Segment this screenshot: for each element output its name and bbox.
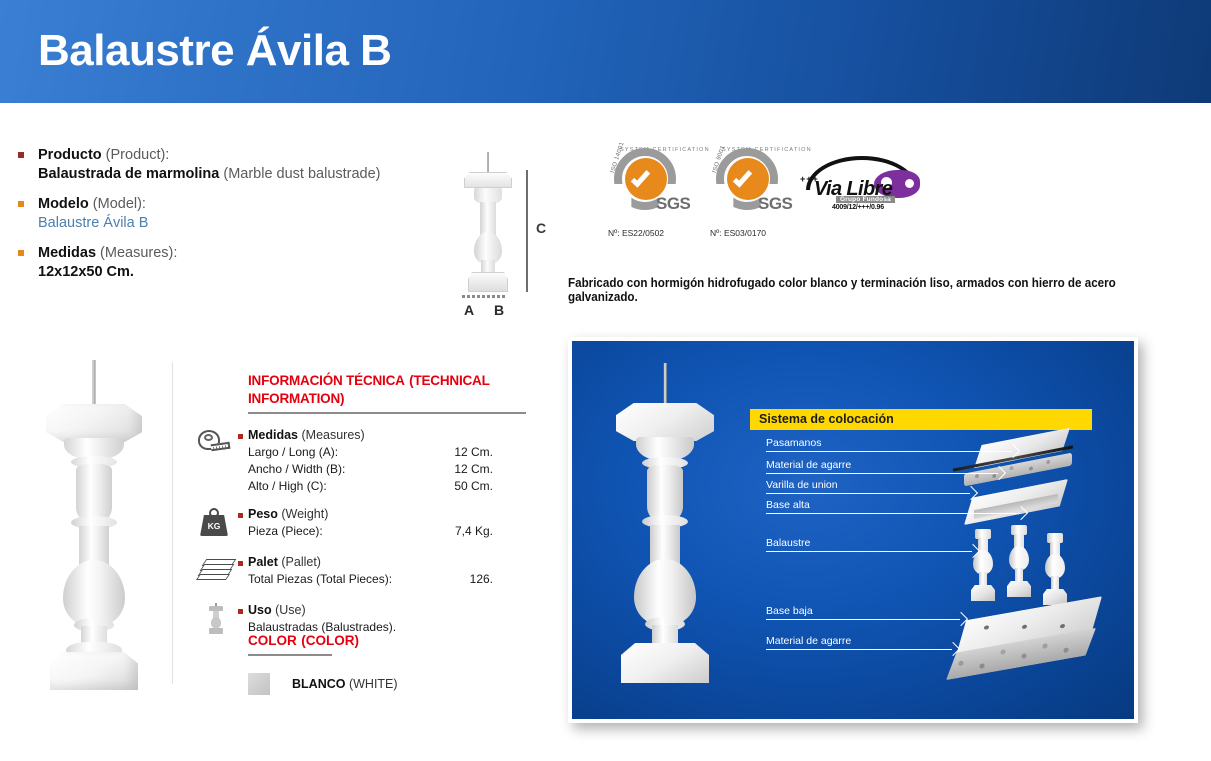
arrow-icon: [966, 544, 980, 558]
callout-line: [766, 513, 1020, 514]
row-value: 12 Cm.: [423, 445, 493, 459]
block-title: Palet (Pallet): [248, 555, 546, 569]
callout-label: Material de agarre: [766, 635, 851, 647]
base-part: [209, 628, 223, 634]
sgs-brand: SGS: [758, 194, 792, 214]
arrow-icon: [954, 612, 968, 626]
product-info-list: Producto (Product): Balaustrada de marmo…: [16, 146, 446, 293]
cap-part: [616, 403, 714, 441]
system-title: Sistema de colocación: [759, 412, 894, 426]
measures-label-es: Medidas: [38, 245, 96, 261]
model-value: Balaustre Ávila B: [38, 214, 446, 233]
column-divider: [172, 362, 173, 684]
row-key: Alto / High (C):: [248, 479, 423, 493]
bullet-icon: [238, 434, 243, 439]
mini-balustrade-part: [1042, 533, 1068, 607]
product-label-row: Producto (Product):: [38, 146, 446, 165]
technical-header: INFORMACIÓN TÉCNICA (TECHNICAL INFORMATI…: [196, 372, 520, 408]
base-part: [50, 652, 138, 690]
callout-pasamanos: Pasamanos: [766, 437, 1020, 457]
callout-label: Pasamanos: [766, 437, 821, 449]
row-value: 50 Cm.: [423, 479, 493, 493]
shaft-part: [480, 202, 496, 236]
arrow-icon: [992, 466, 1006, 480]
callout-base-alta: Base alta: [766, 499, 1028, 519]
table-row: Pieza (Piece): 7,4 Kg.: [248, 524, 546, 538]
tape-measure-icon: [196, 428, 236, 460]
upper-shaft-part: [76, 464, 112, 522]
dimension-diagram: C A B: [448, 148, 558, 323]
mini-balustrade-part: [1006, 525, 1032, 599]
callout-material-de-agarre-bottom: Material de agarre: [766, 635, 960, 655]
technical-block-medidas: Medidas (Measures) Largo / Long (A): 12 …: [196, 428, 546, 493]
callout-line: [766, 619, 960, 620]
color-section: COLOR (COLOR) BLANCO (WHITE): [248, 632, 508, 695]
arrow-icon: [1014, 506, 1028, 520]
color-rule: [248, 654, 332, 656]
callout-line: [766, 451, 1012, 452]
block-title-en: (Pallet): [281, 555, 321, 569]
row-key: Ancho / Width (B):: [248, 462, 423, 476]
callout-label: Base alta: [766, 499, 810, 511]
color-swatch: [248, 673, 270, 695]
product-value-row: Balaustrada de marmolina (Marble dust ba…: [38, 165, 446, 184]
block-title-en: (Measures): [302, 428, 365, 442]
rod-part: [487, 152, 489, 174]
via-libre-subtitle: Grupo Fundosa: [836, 196, 895, 203]
technical-title-es: INFORMACIÓN TÉCNICA: [248, 373, 405, 388]
balustrade-photo-illustration: [38, 360, 150, 690]
vase-part: [634, 559, 696, 625]
dimension-label-c: C: [536, 220, 546, 236]
block-title: Uso (Use): [248, 603, 546, 617]
callout-label: Balaustre: [766, 537, 810, 549]
upper-shaft-part: [647, 465, 683, 521]
technical-block-palet: Palet (Pallet) Total Piezas (Total Piece…: [196, 555, 546, 589]
bullet-icon: [18, 250, 24, 256]
measures-label-row: Medidas (Measures):: [38, 244, 446, 263]
callout-line: [766, 551, 972, 552]
table-row: Largo / Long (A): 12 Cm.: [248, 445, 546, 459]
rod-part: [93, 360, 96, 406]
model-label-row: Modelo (Model):: [38, 195, 446, 214]
balustrade-thumbnail-icon: [460, 152, 516, 294]
arrow-icon: [964, 486, 978, 500]
arrow-icon: [946, 642, 960, 656]
table-row: Total Piezas (Total Pieces): 126.: [248, 572, 546, 586]
technical-block-peso: KG Peso (Weight) Pieza (Piece): 7,4 Kg.: [196, 507, 546, 541]
balustrade-icon: [196, 603, 236, 635]
stem-part: [481, 260, 495, 274]
model-label-en: (Model):: [93, 196, 146, 212]
vase-part: [63, 560, 125, 626]
row-key: Total Piezas (Total Pieces):: [248, 572, 423, 586]
cap-part: [46, 404, 142, 442]
color-name-en: (WHITE): [349, 677, 398, 691]
callout-label: Base baja: [766, 605, 813, 617]
header-banner: Balaustre Ávila B: [0, 0, 1211, 103]
via-libre-code: 4009/12/+++/0.96: [832, 204, 884, 211]
callout-base-baja: Base baja: [766, 605, 968, 625]
width-measure-line: [462, 295, 506, 298]
bullet-icon: [238, 609, 243, 614]
callout-line: [766, 493, 970, 494]
tape-hole: [204, 434, 213, 441]
technical-information-section: INFORMACIÓN TÉCNICA (TECHNICAL INFORMATI…: [196, 372, 546, 637]
product-info-item-producto: Producto (Product): Balaustrada de marmo…: [16, 146, 446, 184]
color-header: COLOR (COLOR): [248, 632, 508, 650]
product-photo: [16, 352, 171, 697]
measures-label-en: (Measures):: [100, 245, 177, 261]
callout-line: [766, 473, 998, 474]
block-title-en: (Weight): [281, 507, 328, 521]
installation-panel: Sistema de colocación: [568, 337, 1138, 723]
block-title-es: Peso: [248, 507, 278, 521]
callout-balaustre: Balaustre: [766, 537, 980, 557]
block-title: Medidas (Measures): [248, 428, 546, 442]
certification-logos: SYSTEM CERTIFICATION ISO 14001 SGS Nº: E…: [600, 146, 930, 246]
table-row: Alto / High (C): 50 Cm.: [248, 479, 546, 493]
manufacture-note: Fabricado con hormigón hidrofugado color…: [568, 276, 1163, 304]
callout-label: Material de agarre: [766, 459, 851, 471]
block-title-es: Uso: [248, 603, 272, 617]
row-key: Pieza (Piece):: [248, 524, 423, 538]
product-value-es: Balaustrada de marmolina: [38, 166, 219, 182]
height-measure-line: [526, 170, 528, 292]
row-key: Largo / Long (A):: [248, 445, 423, 459]
sgs-brand: SGS: [656, 194, 690, 214]
product-value-en: (Marble dust balustrade): [223, 166, 380, 182]
tape-strip: [211, 442, 231, 452]
callout-label: Varilla de union: [766, 479, 838, 491]
cap-part: [464, 172, 512, 188]
bullet-icon: [18, 201, 24, 207]
rod-part: [664, 363, 667, 405]
color-name-es: BLANCO: [292, 677, 345, 691]
weight-unit-label: KG: [200, 521, 228, 531]
dimension-label-b: B: [494, 302, 504, 318]
pallet-icon: [196, 555, 236, 587]
color-swatch-row: BLANCO (WHITE): [248, 673, 508, 695]
check-icon: [631, 167, 650, 187]
via-libre-logo: +++ Via Libre Grupo Fundosa 4009/12/+++/…: [800, 156, 924, 214]
callout-material-de-agarre: Material de agarre: [766, 459, 1006, 479]
product-info-item-medidas: Medidas (Measures): 12x12x50 Cm.: [16, 244, 446, 282]
technical-rule: [248, 412, 526, 414]
row-value: 7,4 Kg.: [423, 524, 493, 538]
block-title-en: (Use): [275, 603, 306, 617]
bullet-icon: [238, 513, 243, 518]
model-label-es: Modelo: [38, 196, 89, 212]
sgs-reference-1: Nº: ES22/0502: [608, 228, 664, 238]
block-title-es: Palet: [248, 555, 278, 569]
bullet-icon: [18, 152, 24, 158]
hero-balustrade-illustration: [610, 363, 720, 693]
arrow-icon: [1006, 444, 1020, 458]
color-title-en: (COLOR): [301, 633, 359, 648]
installation-panel-inner: Sistema de colocación: [572, 341, 1134, 719]
table-row: Ancho / Width (B): 12 Cm.: [248, 462, 546, 476]
check-icon: [733, 167, 752, 187]
product-label-es: Producto: [38, 147, 102, 163]
blob-hole-icon: [905, 179, 914, 188]
color-name: BLANCO (WHITE): [292, 677, 398, 691]
bullet-icon: [238, 561, 243, 566]
datasheet-page: Balaustre Ávila B Producto (Product): Ba…: [0, 0, 1211, 761]
block-title: Peso (Weight): [248, 507, 546, 521]
sgs-iso-14001-logo: SYSTEM CERTIFICATION ISO 14001 SGS: [608, 146, 704, 224]
dimension-label-a: A: [464, 302, 474, 318]
row-value: 12 Cm.: [423, 462, 493, 476]
color-title-es: COLOR: [248, 633, 297, 648]
vase-part: [211, 617, 221, 628]
system-title-bar: Sistema de colocación: [750, 409, 1092, 430]
base-part: [621, 643, 709, 683]
measures-value: 12x12x50 Cm.: [38, 263, 446, 282]
sgs-reference-2: Nº: ES03/0170: [710, 228, 766, 238]
page-title: Balaustre Ávila B: [38, 26, 391, 76]
row-value: 126.: [423, 572, 493, 586]
callout-varilla-de-union: Varilla de union: [766, 479, 978, 499]
pallet-plank: [196, 574, 230, 580]
callout-line: [766, 649, 952, 650]
product-label-en: (Product):: [106, 147, 170, 163]
weight-kg-icon: KG: [196, 507, 236, 539]
base-part: [468, 272, 508, 292]
product-info-item-modelo: Modelo (Model): Balaustre Ávila B: [16, 195, 446, 233]
block-title-es: Medidas: [248, 428, 298, 442]
sgs-iso-9001-logo: SYSTEM CERTIFICATION ISO 9001 SGS: [710, 146, 806, 224]
